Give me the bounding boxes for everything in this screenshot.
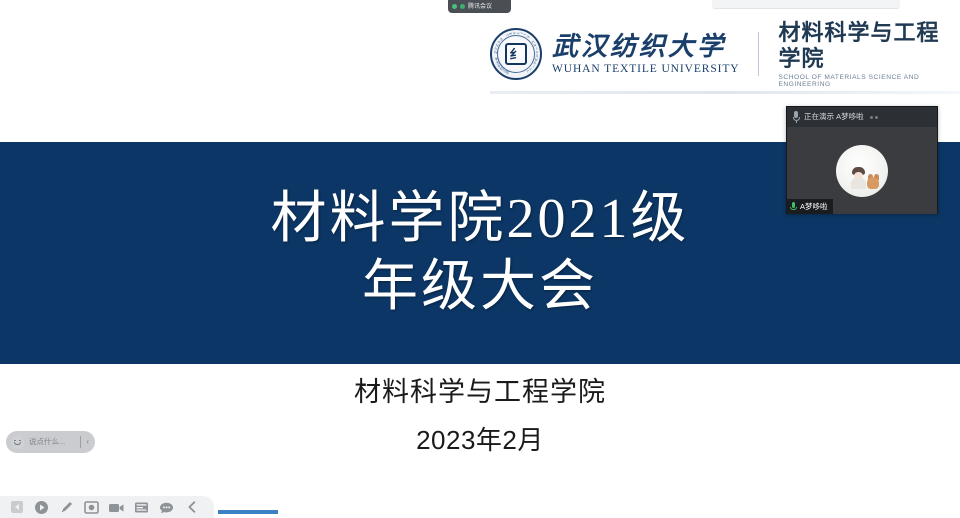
recording-dot-icon <box>452 4 457 9</box>
chat-bubble-icon <box>159 501 174 514</box>
more-dots-icon[interactable] <box>870 116 878 119</box>
video-panel-body[interactable]: A梦哆啦 <box>787 128 937 214</box>
chat-button[interactable] <box>154 496 179 518</box>
video-button[interactable] <box>104 496 129 518</box>
top-right-panel <box>712 0 900 9</box>
school-name-cn: 材料科学与工程学院 <box>778 20 960 71</box>
collapse-button[interactable] <box>179 496 204 518</box>
play-button[interactable] <box>29 496 54 518</box>
university-name-cn: 武汉纺织大学 <box>552 33 739 62</box>
avatar-pet-figure <box>867 173 880 189</box>
microphone-icon <box>792 111 800 123</box>
seal-ring-text: 武汉纺织大学 WUHAN TEXTILE UNIVERSITY <box>492 30 540 78</box>
slide-subtitle-department: 材料科学与工程学院 <box>354 372 606 413</box>
video-panel-header: 正在演示 A梦哆啦 <box>787 107 937 128</box>
school-name-group: 材料科学与工程学院 SCHOOL OF MATERIALS SCIENCE AN… <box>778 20 960 88</box>
notes-icon <box>134 501 149 514</box>
university-logo-header: 武汉纺织大学 WUHAN TEXTILE UNIVERSITY 纟 武汉纺织大学… <box>490 18 960 90</box>
university-name-group: 武汉纺织大学 WUHAN TEXTILE UNIVERSITY <box>552 33 739 75</box>
previous-slide-button[interactable] <box>4 496 29 518</box>
avatar-person-figure <box>850 167 867 189</box>
play-circle-icon <box>34 500 49 515</box>
meeting-status-pill[interactable]: 腾讯会议 <box>448 0 511 13</box>
logo-divider <box>758 32 759 76</box>
recording-dot-secondary-icon <box>460 4 465 9</box>
participant-name-chip: A梦哆啦 <box>787 199 833 214</box>
notes-button[interactable] <box>129 496 154 518</box>
participant-name-label: A梦哆啦 <box>800 203 828 211</box>
slide-subtitle-block: 材料科学与工程学院 2023年2月 <box>0 372 960 460</box>
annotate-button[interactable] <box>54 496 79 518</box>
microphone-active-icon <box>790 202 797 212</box>
spotlight-button[interactable] <box>79 496 104 518</box>
school-name-en: SCHOOL OF MATERIALS SCIENCE AND ENGINEER… <box>778 74 960 88</box>
chat-divider <box>80 436 81 448</box>
presentation-toolbar[interactable] <box>0 496 214 518</box>
focus-square-icon <box>84 500 99 515</box>
progress-fill[interactable] <box>218 510 278 514</box>
progress-track[interactable] <box>214 510 960 514</box>
university-name-en: WUHAN TEXTILE UNIVERSITY <box>552 63 739 75</box>
pencil-icon <box>59 499 75 515</box>
user-avatar <box>836 145 888 197</box>
camera-icon <box>108 501 125 514</box>
slide-title-line-1: 材料学院2021级 <box>271 185 690 253</box>
presentation-slide: 武汉纺织大学 WUHAN TEXTILE UNIVERSITY 纟 武汉纺织大学… <box>0 0 960 496</box>
chevron-left-icon <box>186 500 198 514</box>
meeting-status-label: 腾讯会议 <box>468 4 492 10</box>
chat-input-bubble[interactable]: 说点什么... ‹ <box>6 431 95 453</box>
slide-subtitle-date: 2023年2月 <box>416 421 544 460</box>
chevron-left-icon[interactable]: ‹ <box>86 438 90 446</box>
presenting-status-label: 正在演示 A梦哆啦 <box>804 113 864 121</box>
slide-title-line-2: 年级大会 <box>362 253 598 321</box>
smiley-icon[interactable] <box>11 436 24 449</box>
chat-input-placeholder[interactable]: 说点什么... <box>29 438 75 446</box>
university-seal-icon: 武汉纺织大学 WUHAN TEXTILE UNIVERSITY 纟 <box>490 28 542 80</box>
bottom-bar <box>0 496 960 518</box>
participant-video-panel[interactable]: 正在演示 A梦哆啦 A梦哆啦 <box>786 106 938 214</box>
triangle-left-icon <box>10 500 24 514</box>
